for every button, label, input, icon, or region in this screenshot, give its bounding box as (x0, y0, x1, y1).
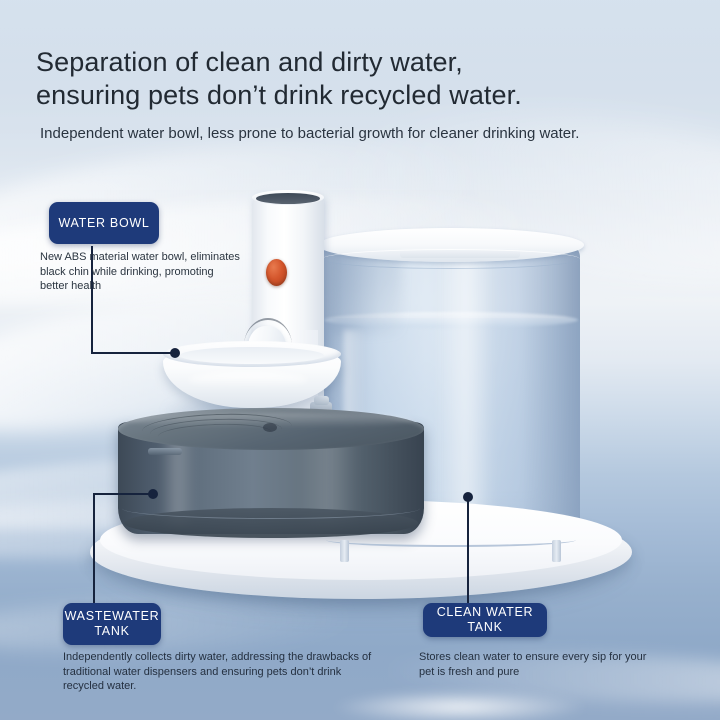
product-infographic: Separation of clean and dirty water, ens… (0, 0, 720, 720)
clean-tank-rim (322, 249, 580, 269)
badge-wastewater-tank[interactable]: WASTEWATER TANK (63, 603, 161, 645)
wastewater-port (263, 423, 277, 432)
wastewater-seam (122, 498, 420, 519)
leader-line-water-bowl-horizontal (91, 352, 175, 354)
clean-tank-strap (326, 533, 576, 547)
leader-dot-water-bowl (170, 348, 180, 358)
bowl-highlight (188, 372, 308, 388)
leader-line-clean-water-vertical (467, 497, 469, 605)
tower-top-opening (256, 193, 320, 204)
description-clean-water-tank: Stores clean water to ensure every sip f… (419, 650, 659, 679)
leader-line-wastewater-horizontal (93, 493, 151, 495)
power-button-icon[interactable] (266, 259, 287, 286)
clean-tank-clip-left (340, 540, 349, 562)
description-wastewater-tank: Independently collects dirty water, addr… (63, 650, 373, 694)
badge-water-bowl[interactable]: WATER BOWL (49, 202, 159, 244)
clean-tank-clip-right (552, 540, 561, 562)
bowl-inner-basin (180, 347, 324, 364)
wastewater-handle-tab (148, 448, 182, 455)
description-water-bowl: New ABS material water bowl, eliminates … (40, 250, 240, 294)
leader-line-wastewater-vertical (93, 493, 95, 605)
badge-clean-water-tank[interactable]: CLEAN WATER TANK (423, 603, 547, 637)
